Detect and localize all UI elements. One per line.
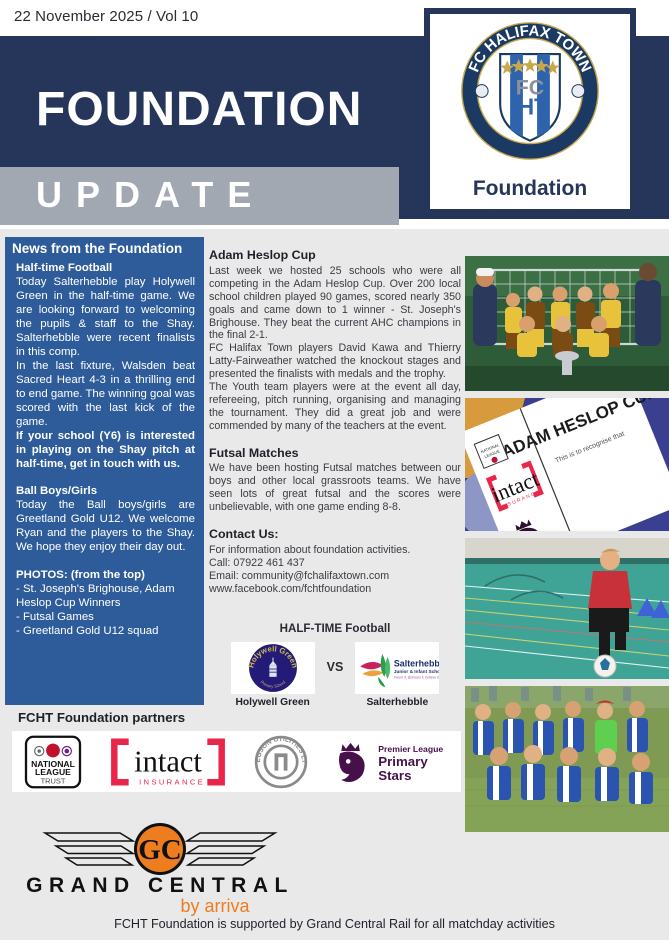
- svg-text:Primary: Primary: [378, 754, 428, 769]
- photo-greetland-gold-u12-squad: [465, 686, 669, 832]
- svg-text:Stars: Stars: [378, 767, 411, 782]
- contact-phone[interactable]: Call: 07922 461 437: [209, 557, 461, 570]
- article-para-0-2: The Youth team players were at the event…: [209, 381, 461, 433]
- article-para-1-0: We have been hosting Futsal matches betw…: [209, 462, 461, 514]
- svg-text:Junior & Infant School: Junior & Infant School: [394, 669, 439, 675]
- article-spacer-2: [209, 514, 461, 527]
- footer-note: FCHT Foundation is supported by Grand Ce…: [0, 917, 669, 931]
- masthead-title: FOUNDATION: [36, 86, 362, 134]
- fixture-home-name: Holywell Green: [231, 697, 315, 708]
- svg-text:HT: HT: [518, 93, 548, 119]
- contact-facebook-link[interactable]: www.facebook.com/fchtfoundation: [209, 583, 461, 596]
- partner-megson-utilities-logo-icon: MEGSON UTILITIES LTD: [253, 733, 309, 791]
- svg-text:TRUST: TRUST: [40, 776, 65, 785]
- partners-section: FCHT Foundation partners NATIONAL LEAGUE…: [12, 710, 461, 792]
- article-futsal-matches: Futsal Matches We have been hosting Futs…: [209, 446, 461, 515]
- issue-date-line: 22 November 2025 / Vol 10: [14, 8, 198, 25]
- club-crest-icon: FC HALIFAX TOWN THE SHAYMEN: [430, 16, 630, 166]
- grand-central-logo-icon: GC GRAND CENTRAL by arriva: [0, 822, 320, 916]
- salterhebble-badge-icon: Salterhebble Junior & Infant School Inve…: [355, 642, 439, 694]
- fixture-versus-label: VS: [327, 660, 344, 690]
- article-title-1: Futsal Matches: [209, 446, 461, 461]
- sidebar-section-title-1: Ball Boys/Girls: [16, 484, 195, 498]
- fixture-away: Salterhebble Junior & Infant School Inve…: [355, 642, 439, 708]
- sidebar-photo-caption-0: - St. Joseph's Brighouse, Adam Heslop Cu…: [16, 582, 195, 610]
- sidebar-section-para-1-0: Today the Ball boys/girls are Greetland …: [16, 498, 195, 554]
- partner-national-league-trust-logo-icon: NATIONAL LEAGUE TRUST: [24, 733, 82, 791]
- article-adam-heslop-cup: Adam Heslop Cup Last week we hosted 25 s…: [209, 248, 461, 433]
- newsletter-page: 22 November 2025 / Vol 10 FOUNDATION UPD…: [0, 0, 669, 940]
- sidebar-spacer-2: [16, 555, 195, 566]
- svg-text:GRAND CENTRAL: GRAND CENTRAL: [26, 874, 294, 897]
- photo-st-josephs-brighouse-cup-winners: [465, 256, 669, 391]
- sidebar-section-para-0-1: In the last fixture, Walsden beat Sacred…: [16, 359, 195, 429]
- article-para-0-0: Last week we hosted 25 schools who were …: [209, 265, 461, 342]
- crest-caption: Foundation: [430, 177, 630, 201]
- sidebar-photos-heading: PHOTOS: (from the top): [16, 568, 195, 582]
- article-spacer-1: [209, 433, 461, 446]
- sidebar-heading: News from the Foundation: [5, 237, 204, 259]
- svg-text:Invent it, @dream it, believe: Invent it, @dream it, believe it: [394, 676, 439, 680]
- partners-title: FCHT Foundation partners: [12, 710, 461, 725]
- photo-adam-heslop-cup-certificate: ADAM HESLOP CUP This is to recognise tha…: [465, 398, 669, 531]
- svg-text:GC: GC: [138, 834, 182, 866]
- sidebar-photo-caption-2: - Greetland Gold U12 squad: [16, 624, 195, 638]
- sidebar-news-panel: News from the Foundation Half-time Footb…: [5, 237, 204, 705]
- article-title-0: Adam Heslop Cup: [209, 248, 461, 263]
- fixture-row: Holywell Green Primary School Holywell G…: [209, 642, 461, 708]
- masthead-subtitle: UPDATE: [36, 177, 265, 213]
- sidebar-spacer-1: [16, 471, 195, 482]
- svg-text:MEGSON UTILITIES LTD: MEGSON UTILITIES LTD: [253, 735, 307, 764]
- sidebar-photo-caption-1: - Futsal Games: [16, 610, 195, 624]
- fixture-home: Holywell Green Primary School Holywell G…: [231, 642, 315, 708]
- svg-text:Premier League: Premier League: [378, 744, 443, 754]
- svg-text:Salterhebble: Salterhebble: [394, 658, 439, 668]
- article-contact-us: Contact Us: For information about founda…: [209, 527, 461, 596]
- partner-premier-league-primary-stars-logo-icon: Premier League Primary Stars: [333, 733, 449, 791]
- main-articles-column: Adam Heslop Cup Last week we hosted 25 s…: [209, 248, 461, 596]
- sidebar-section-callout-0: If your school (Y6) is interested in pla…: [16, 429, 195, 471]
- sidebar-section-para-0-0: Today Salterhebble play Holywell Green i…: [16, 275, 195, 359]
- contact-email[interactable]: Email: community@fchalifaxtown.com: [209, 570, 461, 583]
- article-title-2: Contact Us:: [209, 527, 461, 542]
- partner-intact-insurance-logo-icon: intact INSURANCE: [106, 733, 230, 791]
- sidebar-section-title-0: Half-time Football: [16, 261, 195, 275]
- contact-info-line: For information about foundation activit…: [209, 544, 461, 557]
- holywell-green-badge-icon: Holywell Green Primary School: [231, 642, 315, 694]
- article-para-0-1: FC Halifax Town players David Kawa and T…: [209, 342, 461, 381]
- svg-text:intact: intact: [134, 744, 202, 778]
- club-crest-panel: FC HALIFAX TOWN THE SHAYMEN: [424, 8, 636, 215]
- grand-central-logo-block: GC GRAND CENTRAL by arriva: [0, 822, 669, 916]
- photo-futsal-game: [465, 538, 669, 679]
- fixture-away-name: Salterhebble: [355, 697, 439, 708]
- svg-text:by arriva: by arriva: [180, 896, 250, 916]
- fixture-title: HALF-TIME Football: [209, 622, 461, 635]
- halftime-fixture-block: HALF-TIME Football Holywell Green: [209, 622, 461, 708]
- partners-logo-strip: NATIONAL LEAGUE TRUST intact INSURANCE: [12, 731, 461, 792]
- svg-text:INSURANCE: INSURANCE: [139, 777, 205, 786]
